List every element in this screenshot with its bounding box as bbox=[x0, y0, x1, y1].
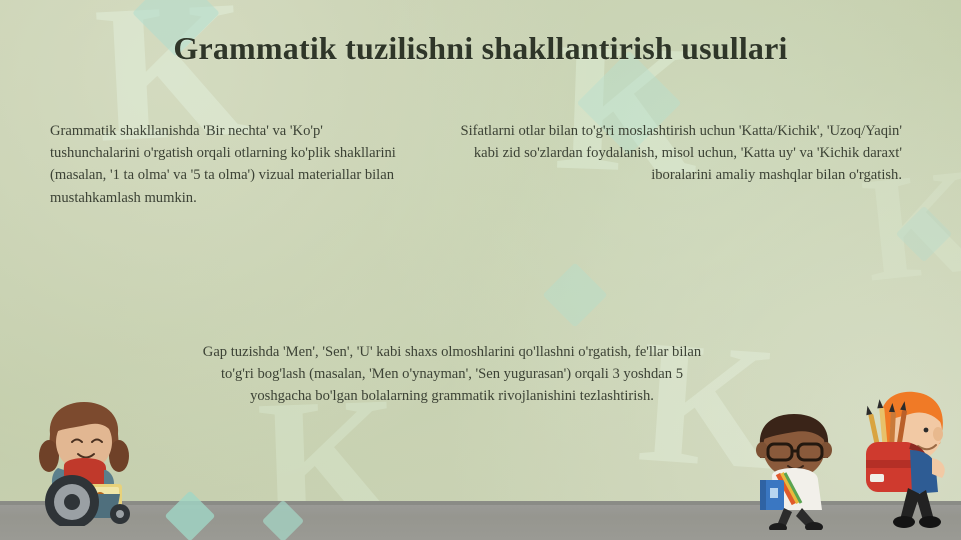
text-block-left: Grammatik shakllanishda 'Bir nechta' va … bbox=[50, 120, 415, 209]
presentation-slide: K K K K K Grammatik tuzilishni shakllant… bbox=[0, 0, 961, 540]
text-block-bottom: Gap tuzishda 'Men', 'Sen', 'U' kabi shax… bbox=[192, 341, 712, 408]
illustration-boy-with-backpack bbox=[848, 388, 952, 530]
page-title: Grammatik tuzilishni shakllantirish usul… bbox=[0, 30, 961, 67]
illustration-girl-in-wheelchair bbox=[24, 398, 144, 526]
text-block-right: Sifatlarni otlar bilan to'g'ri moslashti… bbox=[452, 120, 902, 187]
illustration-boy-with-glasses bbox=[748, 412, 840, 530]
